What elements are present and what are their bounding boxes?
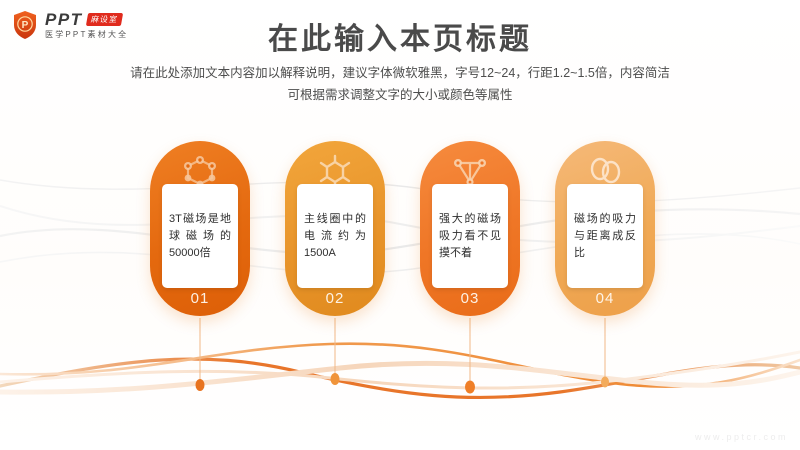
card-text-panel: 主线圈中的电流约为1500A (297, 184, 373, 288)
card-text: 主线圈中的电流约为1500A (304, 211, 366, 262)
card-text: 3T磁场是地球磁场的50000倍 (169, 211, 231, 262)
subtitle-line-1: 请在此处添加文本内容加以解释说明，建议字体微软雅黑，字号12~24，行距1.2~… (80, 62, 720, 84)
card-number: 04 (555, 290, 655, 307)
card-text-panel: 3T磁场是地球磁场的50000倍 (162, 184, 238, 288)
site-watermark: www.pptcr.com (695, 432, 788, 442)
slide-canvas: P PPT 麻设室 医学PPT素材大全 在此输入本页标题 请在此处添加文本内容加… (0, 0, 800, 450)
card-list: 3T磁场是地球磁场的50000倍 01 主线圈中的电流约为1500A 02 (0, 141, 800, 321)
info-card-01[interactable]: 3T磁场是地球磁场的50000倍 01 (150, 141, 250, 316)
card-number: 01 (150, 290, 250, 307)
page-title: 在此输入本页标题 (0, 14, 800, 58)
card-text: 强大的磁场吸力看不见摸不着 (439, 211, 501, 262)
info-card-02[interactable]: 主线圈中的电流约为1500A 02 (285, 141, 385, 316)
card-text-panel: 强大的磁场吸力看不见摸不着 (432, 184, 508, 288)
card-number: 02 (285, 290, 385, 307)
subtitle-line-2: 可根据需求调整文字的大小或颜色等属性 (80, 84, 720, 106)
card-text: 磁场的吸力与距离成反比 (574, 211, 636, 262)
card-number: 03 (420, 290, 520, 307)
info-card-03[interactable]: 强大的磁场吸力看不见摸不着 03 (420, 141, 520, 316)
card-text-panel: 磁场的吸力与距离成反比 (567, 184, 643, 288)
page-subtitle: 请在此处添加文本内容加以解释说明，建议字体微软雅黑，字号12~24，行距1.2~… (0, 62, 800, 106)
info-card-04[interactable]: 磁场的吸力与距离成反比 04 (555, 141, 655, 316)
